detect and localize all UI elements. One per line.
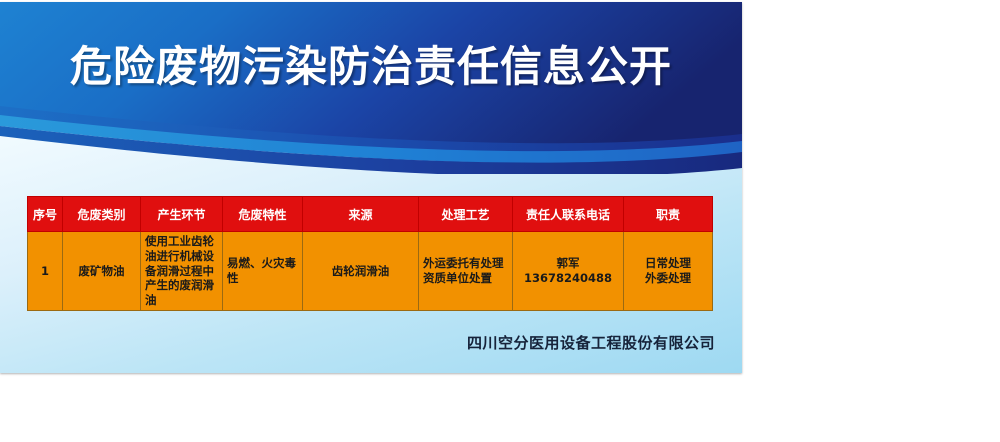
cell-category: 废矿物油 (63, 232, 141, 311)
column-header-source: 来源 (303, 197, 419, 232)
hazardous-waste-table: 序号 危废类别 产生环节 危废特性 来源 处理工艺 责任人联系电话 职责 1 废… (27, 196, 713, 311)
column-header-index: 序号 (28, 197, 63, 232)
cell-characteristics: 易燃、火灾毒性 (223, 232, 303, 311)
cell-stage: 使用工业齿轮油进行机械设备润滑过程中产生的废润滑油 (141, 232, 223, 311)
column-header-characteristics: 危废特性 (223, 197, 303, 232)
column-header-process: 处理工艺 (419, 197, 513, 232)
column-header-stage: 产生环节 (141, 197, 223, 232)
cell-index: 1 (28, 232, 63, 311)
company-name: 四川空分医用设备工程股份有限公司 (0, 332, 715, 353)
banner-header: 危险废物污染防治责任信息公开 (0, 2, 742, 174)
cell-duty: 日常处理 外委处理 (624, 232, 713, 311)
cell-process: 外运委托有处理资质单位处置 (419, 232, 513, 311)
column-header-category: 危废类别 (63, 197, 141, 232)
cell-contact: 郭军 13678240488 (513, 232, 624, 311)
information-board: 危险废物污染防治责任信息公开 序号 危废类别 产生环节 危废特性 来源 处理工艺… (0, 2, 742, 373)
column-header-contact: 责任人联系电话 (513, 197, 624, 232)
column-header-duty: 职责 (624, 197, 713, 232)
table-header-row: 序号 危废类别 产生环节 危废特性 来源 处理工艺 责任人联系电话 职责 (28, 197, 713, 232)
cell-source: 齿轮润滑油 (303, 232, 419, 311)
table-row: 1 废矿物油 使用工业齿轮油进行机械设备润滑过程中产生的废润滑油 易燃、火灾毒性… (28, 232, 713, 311)
page-title: 危险废物污染防治责任信息公开 (0, 46, 742, 88)
